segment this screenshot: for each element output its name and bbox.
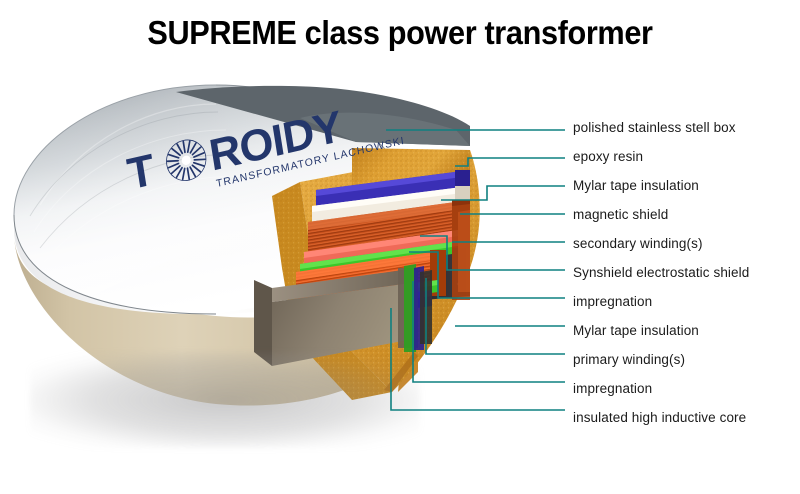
callout-label: primary winding(s)	[573, 352, 685, 367]
callout-label: polished stainless stell box	[573, 120, 736, 135]
callout-label: Mylar tape insulation	[573, 323, 699, 338]
leader-line	[441, 186, 565, 200]
callout-label: epoxy resin	[573, 149, 643, 164]
leader-line	[391, 308, 565, 410]
leader-line	[426, 278, 565, 354]
leader-line	[413, 281, 565, 382]
callout-label: impregnation	[573, 381, 652, 396]
callout-label: impregnation	[573, 294, 652, 309]
callout-label: Synshield electrostatic shield	[573, 265, 749, 280]
callout-label: insulated high inductive core	[573, 410, 746, 425]
leader-line	[420, 236, 565, 270]
leader-line	[455, 158, 565, 166]
callout-label: Mylar tape insulation	[573, 178, 699, 193]
leader-line	[409, 252, 565, 298]
callout-label: magnetic shield	[573, 207, 668, 222]
callout-label: secondary winding(s)	[573, 236, 703, 251]
diagram-canvas: SUPREME class power transformer	[0, 0, 800, 489]
